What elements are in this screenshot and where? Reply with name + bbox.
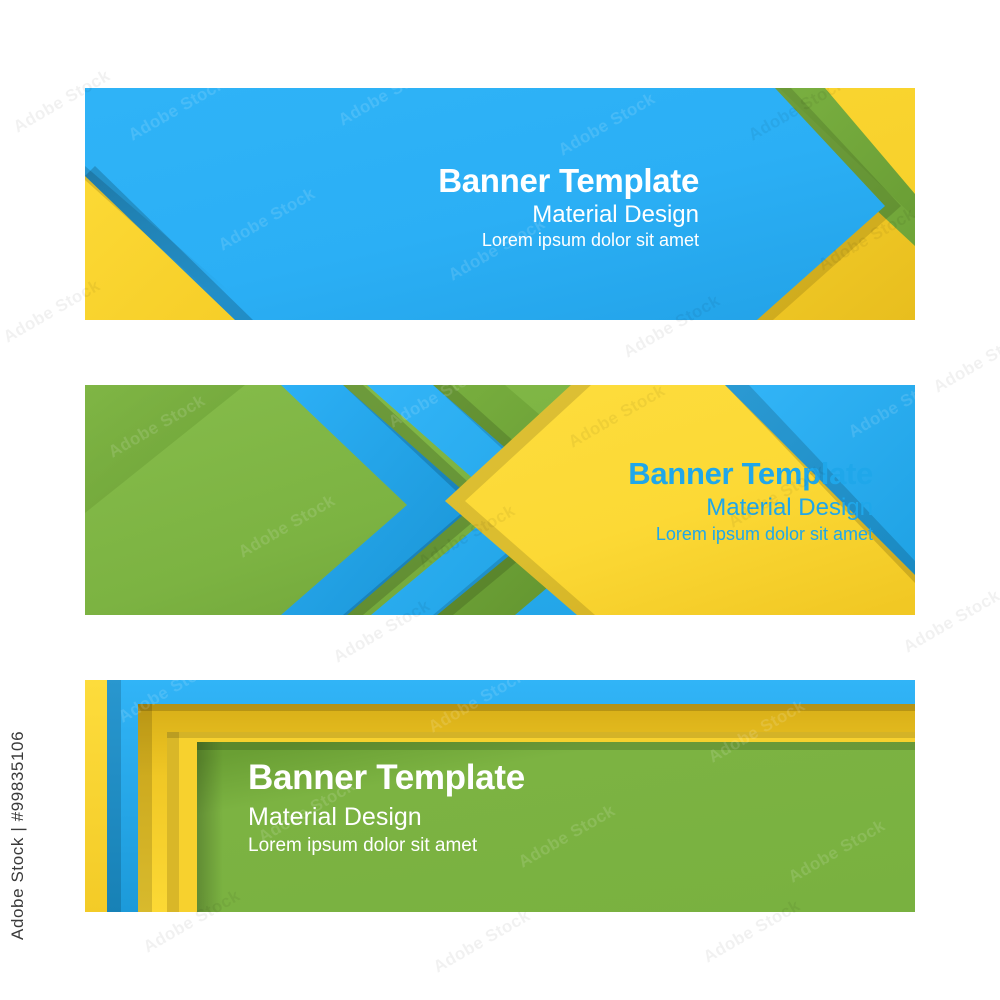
banner-green-yellow-inner-shadow-h [138, 704, 915, 711]
banner-yellow-text-block: Banner Template Material Design Lorem ip… [628, 458, 873, 544]
banner-green-subtitle: Material Design [248, 804, 525, 830]
banner-green-text-block: Banner Template Material Design Lorem ip… [248, 760, 525, 856]
banner-green-yellow-step-shadow-h [167, 732, 915, 738]
banner-green-panel-shadow-v [197, 742, 223, 912]
banner-blue[interactable]: Banner Template Material Design Lorem ip… [85, 88, 915, 320]
banner-green-blue-frame-shadow [107, 680, 121, 912]
banner-blue-lorem: Lorem ipsum dolor sit amet [438, 231, 699, 250]
banner-green[interactable]: Banner Template Material Design Lorem ip… [85, 680, 915, 912]
banner-green-lorem: Lorem ipsum dolor sit amet [248, 836, 525, 856]
banner-yellow[interactable]: Banner Template Material Design Lorem ip… [85, 385, 915, 615]
banner-yellow-lorem: Lorem ipsum dolor sit amet [628, 525, 873, 544]
watermark-text: Adobe Stock [430, 906, 534, 977]
banner-blue-text-block: Banner Template Material Design Lorem ip… [438, 164, 699, 250]
banner-green-title: Banner Template [248, 760, 525, 796]
canvas: Banner Template Material Design Lorem ip… [0, 0, 1000, 1000]
watermark-text: Adobe Stock [900, 586, 1000, 657]
banner-blue-subtitle: Material Design [438, 203, 699, 228]
stock-id-label: Adobe Stock | #99835106 [8, 731, 28, 940]
watermark-text: Adobe Stock [930, 326, 1000, 397]
banner-green-yellow-inner-shadow-v [138, 704, 152, 912]
banner-yellow-title: Banner Template [628, 458, 873, 490]
banner-yellow-subtitle: Material Design [628, 496, 873, 521]
banner-green-yellow-step-shadow-v [167, 732, 179, 912]
banner-green-panel-shadow-h [197, 742, 915, 750]
banner-blue-title: Banner Template [438, 164, 699, 198]
